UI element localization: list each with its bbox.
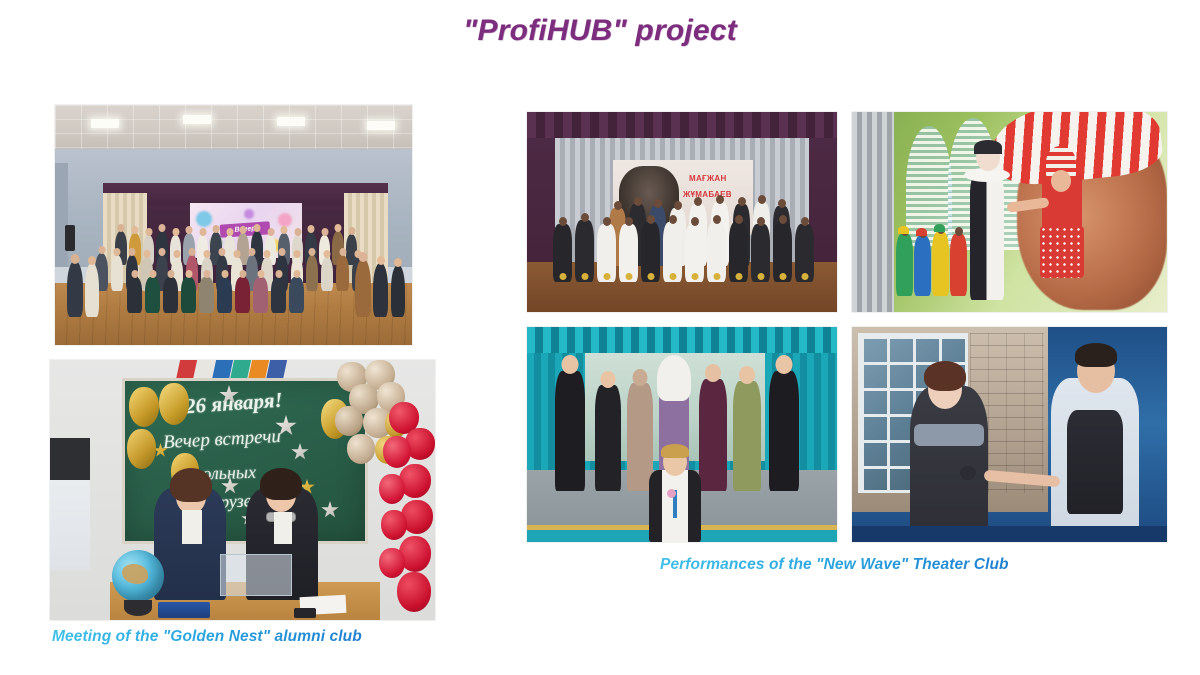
books <box>158 602 210 618</box>
magzhan-zhumabayev-stage-photo: МАҒЖАН ЖҰМАБАЕВ <box>527 112 837 312</box>
screen-line-1: МАҒЖАН <box>689 174 727 183</box>
pierrot-costume <box>970 174 1004 300</box>
white-headscarf <box>657 355 691 401</box>
actress <box>910 386 988 536</box>
decor-strip <box>178 360 298 380</box>
school-dress-display <box>50 438 90 570</box>
caption-theater-club: Performances of the "New Wave" Theater C… <box>660 556 1009 574</box>
chalkboard-registration-desk-photo: 26 января! Вечер встречи школьных друзей <box>50 360 435 620</box>
teal-stage-costume-group-photo <box>527 327 837 542</box>
side-curtain <box>852 112 894 312</box>
phone <box>294 608 316 618</box>
auditorium-group-photo: Вечер <box>55 105 412 345</box>
two-actors-scene-photo <box>852 327 1167 542</box>
clown-theater-performance-photo <box>852 112 1167 312</box>
teacher-front <box>649 446 701 542</box>
screen-line-2: ЖҰМАБАЕВ <box>683 190 732 199</box>
striped-hat-character <box>1042 172 1082 300</box>
caption-alumni-club: Meeting of the "Golden Nest" alumni club <box>52 628 362 646</box>
balloon-arch-red <box>379 402 435 620</box>
ceiling <box>55 105 412 151</box>
globe <box>112 550 164 602</box>
slide-canvas: "ProfiHUB" project Вечер <box>0 0 1200 675</box>
chalk-line-2: Вечер встречи <box>163 426 282 454</box>
page-title: "ProfiHUB" project <box>0 14 1200 48</box>
acrylic-stand <box>220 554 292 596</box>
